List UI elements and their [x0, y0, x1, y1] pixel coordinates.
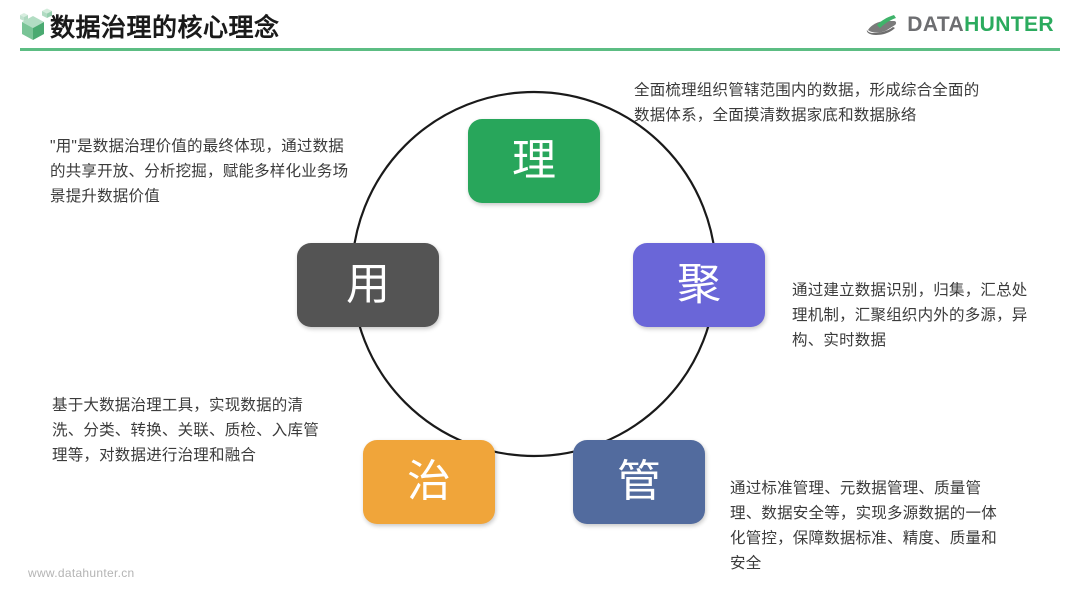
- header-divider: [20, 48, 1060, 51]
- node-guan[interactable]: 管: [573, 440, 705, 524]
- caption-ju: 通过建立数据识别，归集，汇总处理机制，汇聚组织内外的多源，异构、实时数据: [792, 278, 1032, 353]
- node-guan-label: 管: [617, 460, 661, 504]
- node-ju-label: 聚: [677, 263, 721, 307]
- node-yong-label: 用: [346, 263, 390, 307]
- slide-canvas: 数据治理的核心理念 DATAHUNTER 理 聚 管 治 用 全面梳: [0, 0, 1080, 589]
- header: 数据治理的核心理念 DATAHUNTER: [0, 0, 1080, 52]
- node-ju[interactable]: 聚: [633, 243, 765, 327]
- node-li-label: 理: [512, 139, 556, 183]
- brand-data-text: DATA: [907, 13, 964, 36]
- node-li[interactable]: 理: [468, 119, 600, 203]
- brand-wordmark: DATAHUNTER: [907, 13, 1054, 37]
- brand-hunter-text: HUNTER: [964, 13, 1054, 36]
- brand-logo: DATAHUNTER: [865, 12, 1054, 38]
- caption-guan: 通过标准管理、元数据管理、质量管理、数据安全等，实现多源数据的一体化管控，保障数…: [730, 476, 1010, 576]
- caption-zhi: 基于大数据治理工具，实现数据的清洗、分类、转换、关联、质检、入库管理等，对数据进…: [52, 393, 332, 468]
- node-zhi[interactable]: 治: [363, 440, 495, 524]
- page-title: 数据治理的核心理念: [50, 8, 280, 44]
- hat-icon: [865, 13, 899, 37]
- footer-url: www.datahunter.cn: [28, 566, 135, 580]
- node-zhi-label: 治: [407, 460, 451, 504]
- node-yong[interactable]: 用: [297, 243, 439, 327]
- caption-yong: "用"是数据治理价值的最终体现，通过数据的共享开放、分析挖掘，赋能多样化业务场景…: [50, 134, 350, 209]
- caption-li: 全面梳理组织管辖范围内的数据，形成综合全面的数据体系，全面摸清数据家底和数据脉络: [634, 78, 986, 128]
